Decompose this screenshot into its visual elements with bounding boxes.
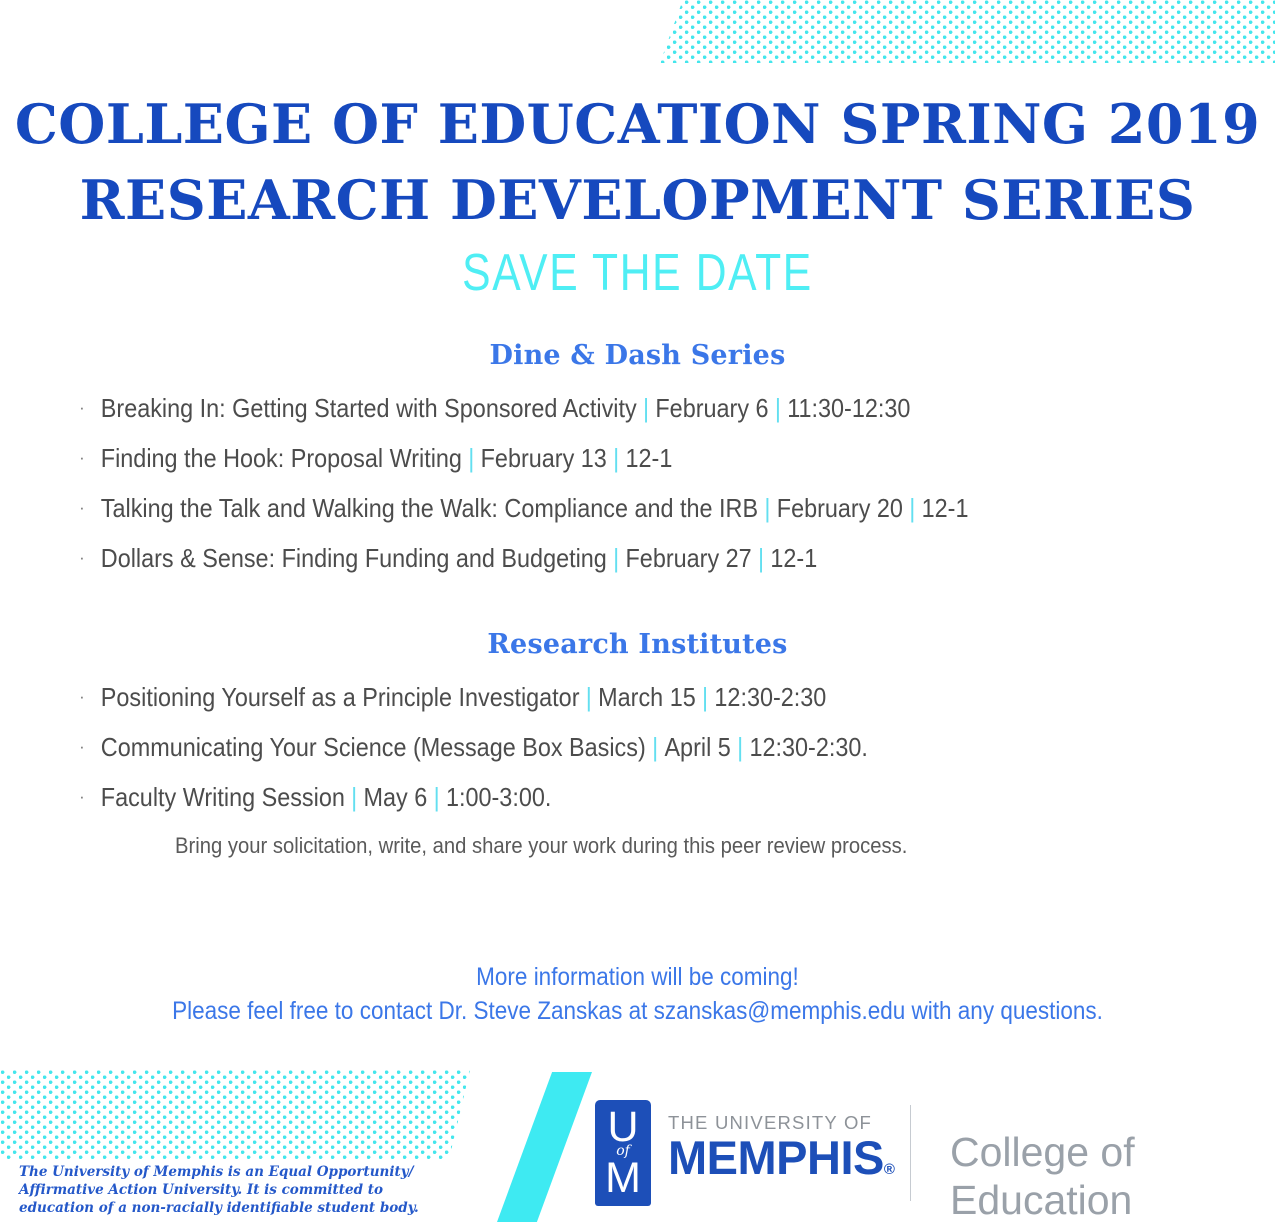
wordmark-memphis: MEMPHIS [668, 1131, 884, 1184]
separator-icon: | [903, 485, 922, 532]
separator-icon: | [769, 385, 788, 432]
registered-trademark-icon: ® [884, 1161, 895, 1178]
footer-divider [910, 1105, 911, 1201]
session-title: Faculty Writing Session [101, 774, 345, 821]
list-item: · Dollars & Sense: Finding Funding and B… [0, 535, 1148, 585]
separator-icon: | [758, 485, 777, 532]
session-date: February 20 [777, 485, 903, 532]
session-date: May 6 [364, 774, 428, 821]
session-date: March 15 [598, 674, 696, 721]
contact-line-1: More information will be coming! [64, 960, 1212, 994]
session-date: February 13 [481, 435, 607, 482]
session-list: · Positioning Yourself as a Principle In… [0, 674, 1275, 824]
separator-icon: | [752, 535, 771, 582]
badge-letter-m: M [595, 1155, 651, 1201]
session-time: 1:00-3:00. [446, 774, 551, 821]
bullet-icon: · [63, 384, 101, 431]
contact-line-2: Please feel free to contact Dr. Steve Za… [64, 994, 1212, 1028]
session-title: Breaking In: Getting Started with Sponso… [101, 385, 637, 432]
halftone-pattern-bottom-left [0, 1070, 470, 1160]
session-date: April 5 [664, 724, 730, 771]
page-title-line-1: COLLEGE OF EDUCATION SPRING 2019 [0, 86, 1275, 162]
poster-body: Dine & Dash Series · Breaking In: Gettin… [0, 340, 1275, 868]
session-title: Dollars & Sense: Finding Funding and Bud… [101, 535, 607, 582]
university-logo: U of M THE UNIVERSITY OF MEMPHIS® [595, 1100, 894, 1206]
cyan-diagonal-stripe [497, 1072, 592, 1222]
bullet-icon: · [63, 434, 101, 481]
bullet-icon: · [63, 723, 101, 770]
university-wordmark: THE UNIVERSITY OF MEMPHIS® [668, 1112, 894, 1194]
session-title: Talking the Talk and Walking the Walk: C… [101, 485, 758, 532]
separator-icon: | [427, 774, 446, 821]
page-subtitle: SAVE THE DATE [115, 244, 1161, 302]
session-title: Finding the Hook: Proposal Writing [101, 435, 462, 482]
session-title: Positioning Yourself as a Principle Inve… [101, 674, 580, 721]
separator-icon: | [345, 774, 364, 821]
session-time: 12-1 [770, 535, 817, 582]
session-note: Bring your solicitation, write, and shar… [175, 824, 1187, 868]
section-dine-and-dash: Dine & Dash Series · Breaking In: Gettin… [0, 340, 1275, 585]
session-time: 12-1 [626, 435, 673, 482]
bullet-icon: · [63, 773, 101, 820]
poster-canvas: COLLEGE OF EDUCATION SPRING 2019 RESEARC… [0, 0, 1275, 1231]
bullet-icon: · [63, 673, 101, 720]
separator-icon: | [579, 674, 598, 721]
separator-icon: | [646, 724, 665, 771]
equal-opportunity-disclaimer: The University of Memphis is an Equal Op… [19, 1163, 419, 1217]
list-item: · Breaking In: Getting Started with Spon… [0, 385, 1148, 435]
section-gap [0, 585, 1275, 629]
separator-icon: | [731, 724, 750, 771]
list-item: · Talking the Talk and Walking the Walk:… [0, 485, 1148, 535]
session-date: February 6 [655, 385, 768, 432]
contact-block: More information will be coming! Please … [0, 960, 1275, 1028]
session-time: 12:30-2:30 [714, 674, 826, 721]
poster-header: COLLEGE OF EDUCATION SPRING 2019 RESEARC… [0, 86, 1275, 302]
session-time: 12-1 [922, 485, 969, 532]
bullet-icon: · [63, 534, 101, 581]
list-item: · Faculty Writing Session | May 6 | 1:00… [0, 774, 1148, 824]
wordmark-main-line: MEMPHIS® [668, 1134, 894, 1194]
section-heading: Research Institutes [0, 629, 1275, 660]
session-time: 11:30-12:30 [787, 385, 910, 432]
session-date: February 27 [626, 535, 752, 582]
uofm-badge-icon: U of M [595, 1100, 651, 1206]
separator-icon: | [637, 385, 656, 432]
college-label: College of Education [950, 1128, 1275, 1224]
separator-icon: | [462, 435, 481, 482]
section-heading: Dine & Dash Series [0, 340, 1275, 371]
section-research-institutes: Research Institutes · Positioning Yourse… [0, 629, 1275, 868]
list-item: · Finding the Hook: Proposal Writing | F… [0, 435, 1148, 485]
session-list: · Breaking In: Getting Started with Spon… [0, 385, 1275, 585]
list-item: · Positioning Yourself as a Principle In… [0, 674, 1148, 724]
bullet-icon: · [63, 484, 101, 531]
list-item: · Communicating Your Science (Message Bo… [0, 724, 1148, 774]
halftone-pattern-top-right [660, 0, 1275, 63]
separator-icon: | [696, 674, 715, 721]
separator-icon: | [607, 435, 626, 482]
page-title-line-2: RESEARCH DEVELOPMENT SERIES [0, 162, 1275, 238]
separator-icon: | [607, 535, 626, 582]
session-time: 12:30-2:30. [749, 724, 867, 771]
session-title: Communicating Your Science (Message Box … [101, 724, 646, 771]
